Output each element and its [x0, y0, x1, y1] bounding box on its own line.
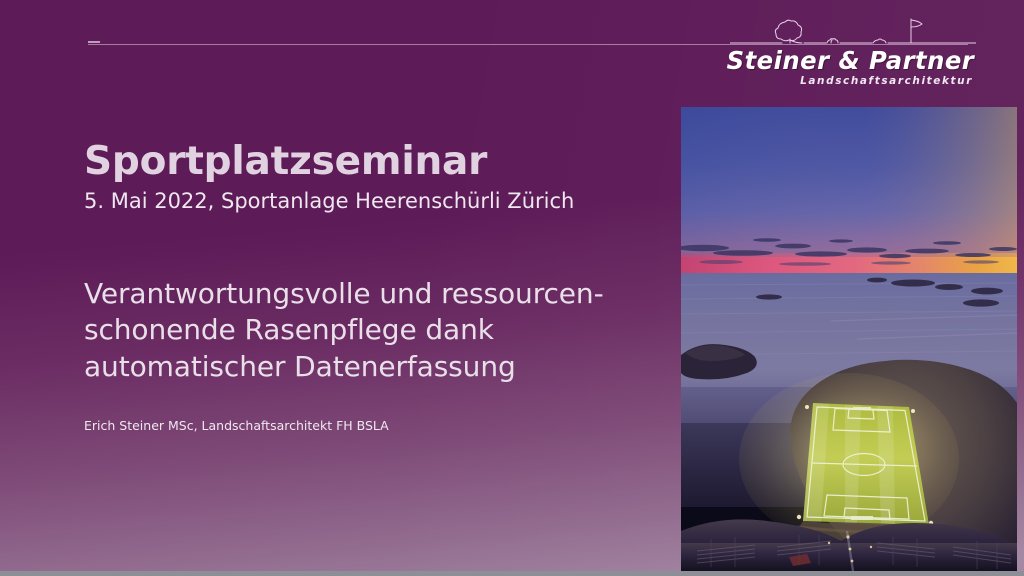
photo-illustration: [681, 107, 1017, 571]
logo-company-name: Steiner & Partner: [726, 46, 974, 75]
author-credit: Erich Steiner MSc, Landschaftsarchitekt …: [84, 418, 664, 434]
header-rule-cap: [88, 41, 100, 43]
slide-subtitle: 5. Mai 2022, Sportanlage Heerenschürli Z…: [84, 188, 664, 214]
headline-line-1: Verantwortungsvolle und ressourcen-: [84, 276, 664, 313]
aerial-football-pitch-photo: [681, 107, 1017, 571]
presentation-slide: Steiner & Partner Landschaftsarchitektur…: [0, 0, 1024, 576]
page-title: Sportplatzseminar: [84, 140, 664, 184]
slide-headline: Verantwortungsvolle und ressourcen- scho…: [84, 276, 664, 386]
bottom-edge-strip: [0, 571, 1024, 576]
slide-text-column: Sportplatzseminar 5. Mai 2022, Sportanla…: [84, 140, 664, 434]
headline-line-3: automatischer Datenerfassung: [84, 349, 664, 386]
headline-line-2: schonende Rasenpflege dank: [84, 312, 664, 349]
company-logo: Steiner & Partner Landschaftsarchitektur: [730, 12, 976, 84]
logo-tagline: Landschaftsarchitektur: [800, 74, 973, 87]
